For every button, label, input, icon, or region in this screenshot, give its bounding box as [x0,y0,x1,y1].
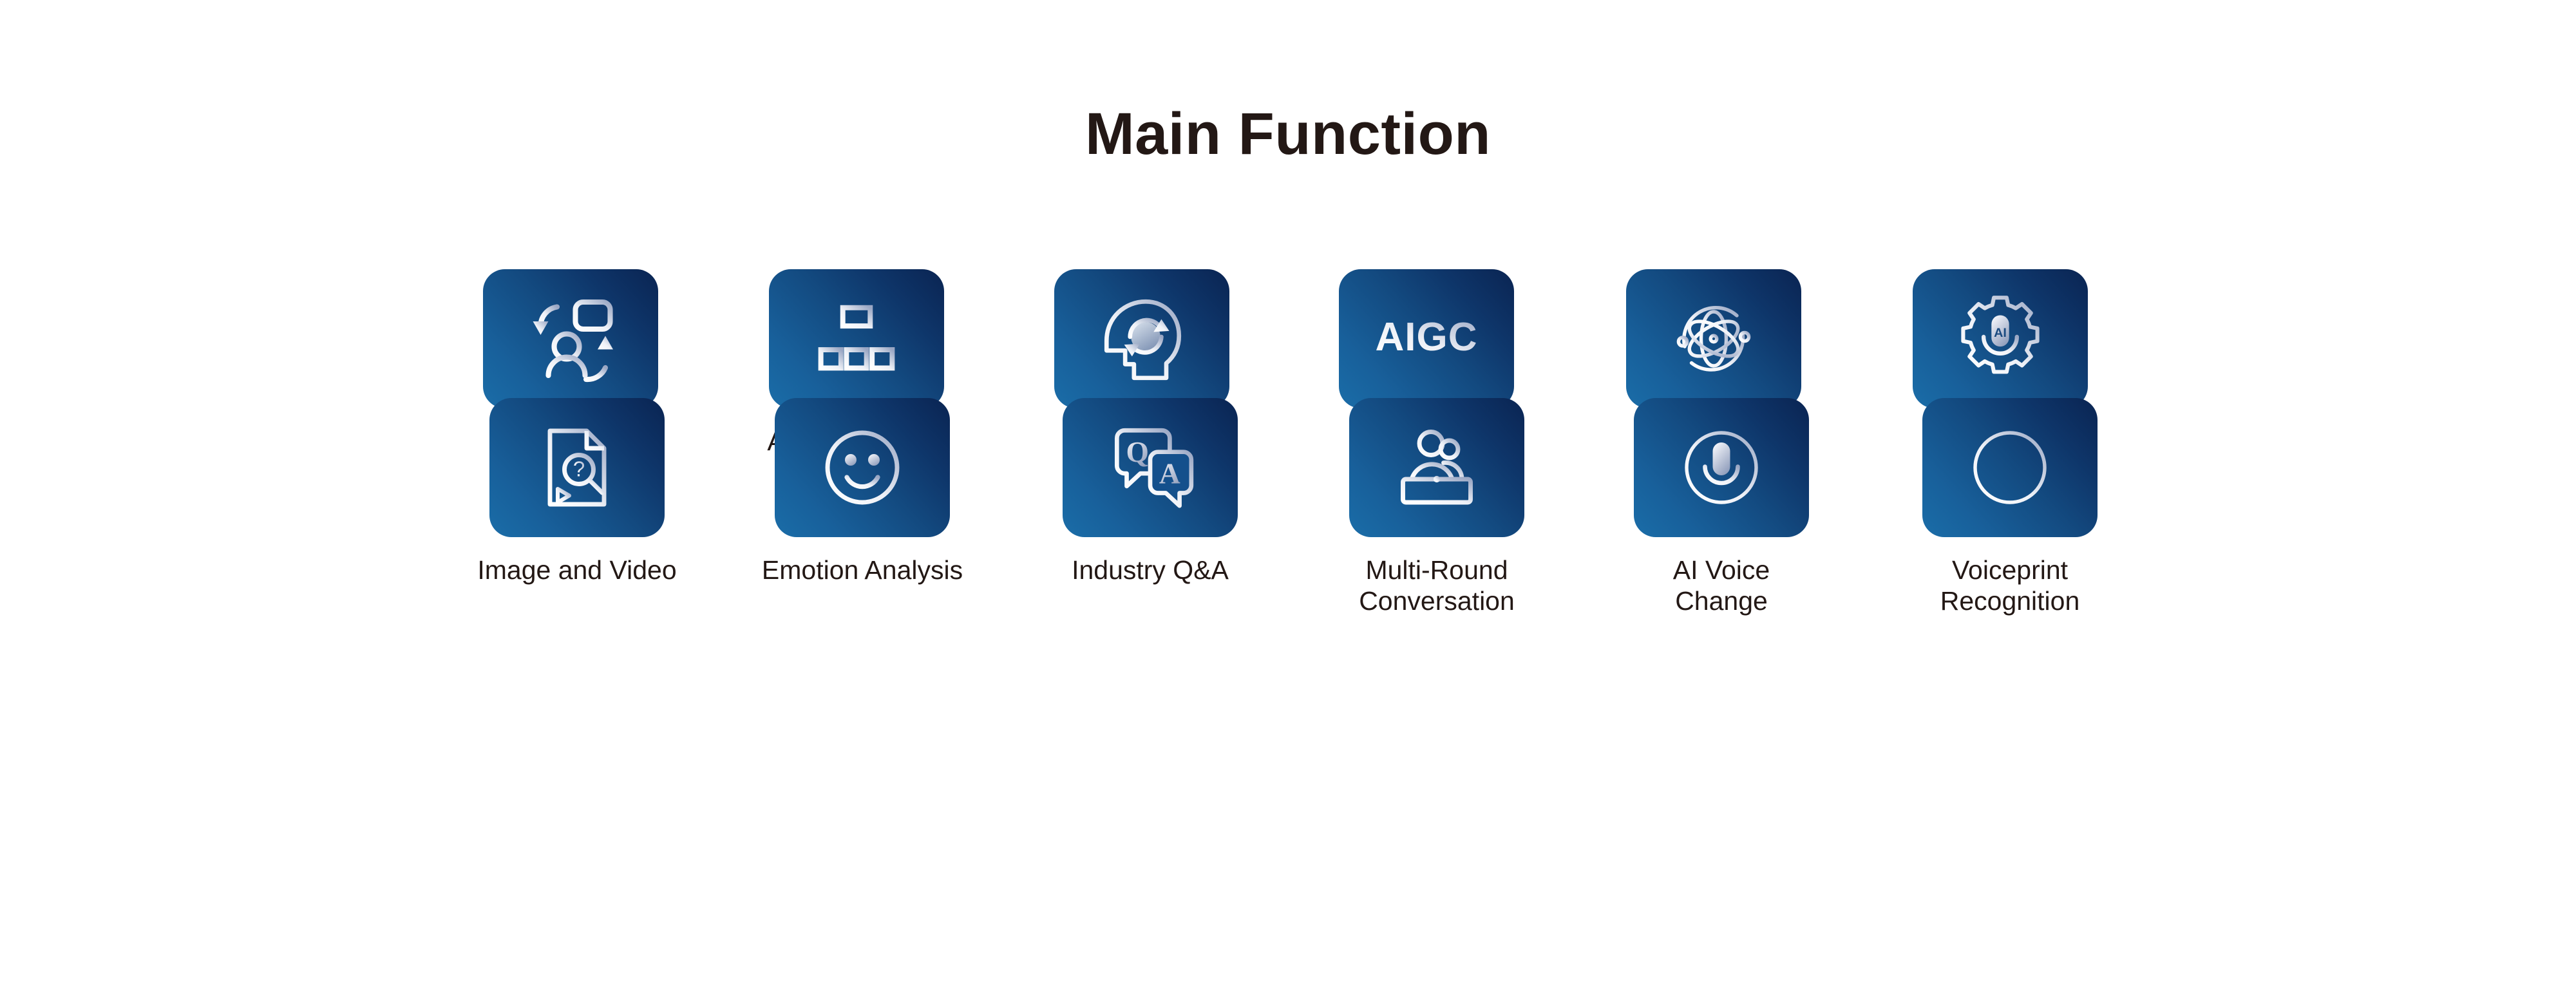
task-breakdown-hierarchy-icon [811,293,902,384]
feature-tile[interactable] [1349,398,1524,537]
svg-text:A: A [1159,457,1180,489]
voice-waveform-circle-icon [1962,419,2058,516]
feature-tile[interactable] [775,398,950,537]
head-refresh-decision-icon [1093,290,1191,388]
feature-tile[interactable] [769,269,944,408]
feature-tile[interactable] [1922,398,2098,537]
feature-tile[interactable] [483,269,658,408]
feature-label: Industry Q&A [1072,555,1229,586]
feature-label: AI Voice Change [1673,555,1770,617]
feature-tile[interactable] [1634,398,1809,537]
aigc-text-icon: AIGC [1362,307,1491,371]
feature-item-industry-qa[interactable]: Q A Industry Q&A [1009,398,1292,586]
document-search-video-icon: ? [529,419,625,516]
qa-speech-bubbles-icon: Q A [1101,419,1199,517]
smiley-face-icon [814,419,911,516]
main-function-page: Main Function Multimodal Inte [0,0,2576,1006]
feature-item-voiceprint-recognition[interactable]: Voiceprint Recognition [1868,398,2152,617]
feature-label: Image and Video [477,555,676,586]
feature-grid: Multimodal Interaction [0,0,2576,1006]
feature-item-multi-round-conversation[interactable]: Multi-Round Conversation [1295,398,1578,617]
svg-text:?: ? [573,457,585,481]
svg-text:AI: AI [1994,326,2007,340]
people-desk-icon [1388,419,1485,516]
feature-tile[interactable]: AI [1913,269,2088,408]
feature-item-image-and-video[interactable]: ? Image and Video [435,398,719,586]
svg-text:Q: Q [1126,435,1149,468]
feature-label: Multi-Round Conversation [1359,555,1515,617]
microphone-circle-icon [1673,419,1770,516]
feature-label: Voiceprint Recognition [1940,555,2080,617]
feature-tile[interactable]: AIGC [1339,269,1514,408]
multimodal-interaction-icon [522,290,619,387]
feature-label: Emotion Analysis [762,555,963,586]
feature-item-emotion-analysis[interactable]: Emotion Analysis [721,398,1004,586]
feature-item-ai-voice-change[interactable]: AI Voice Change [1580,398,1863,617]
feature-tile[interactable]: ? [489,398,665,537]
feature-tile[interactable] [1054,269,1229,408]
aigc-text: AIGC [1376,315,1478,359]
atom-orbit-icon [1665,290,1762,387]
gear-ai-microphone-icon: AI [1951,290,2049,388]
feature-tile[interactable]: Q A [1063,398,1238,537]
feature-tile[interactable] [1626,269,1801,408]
